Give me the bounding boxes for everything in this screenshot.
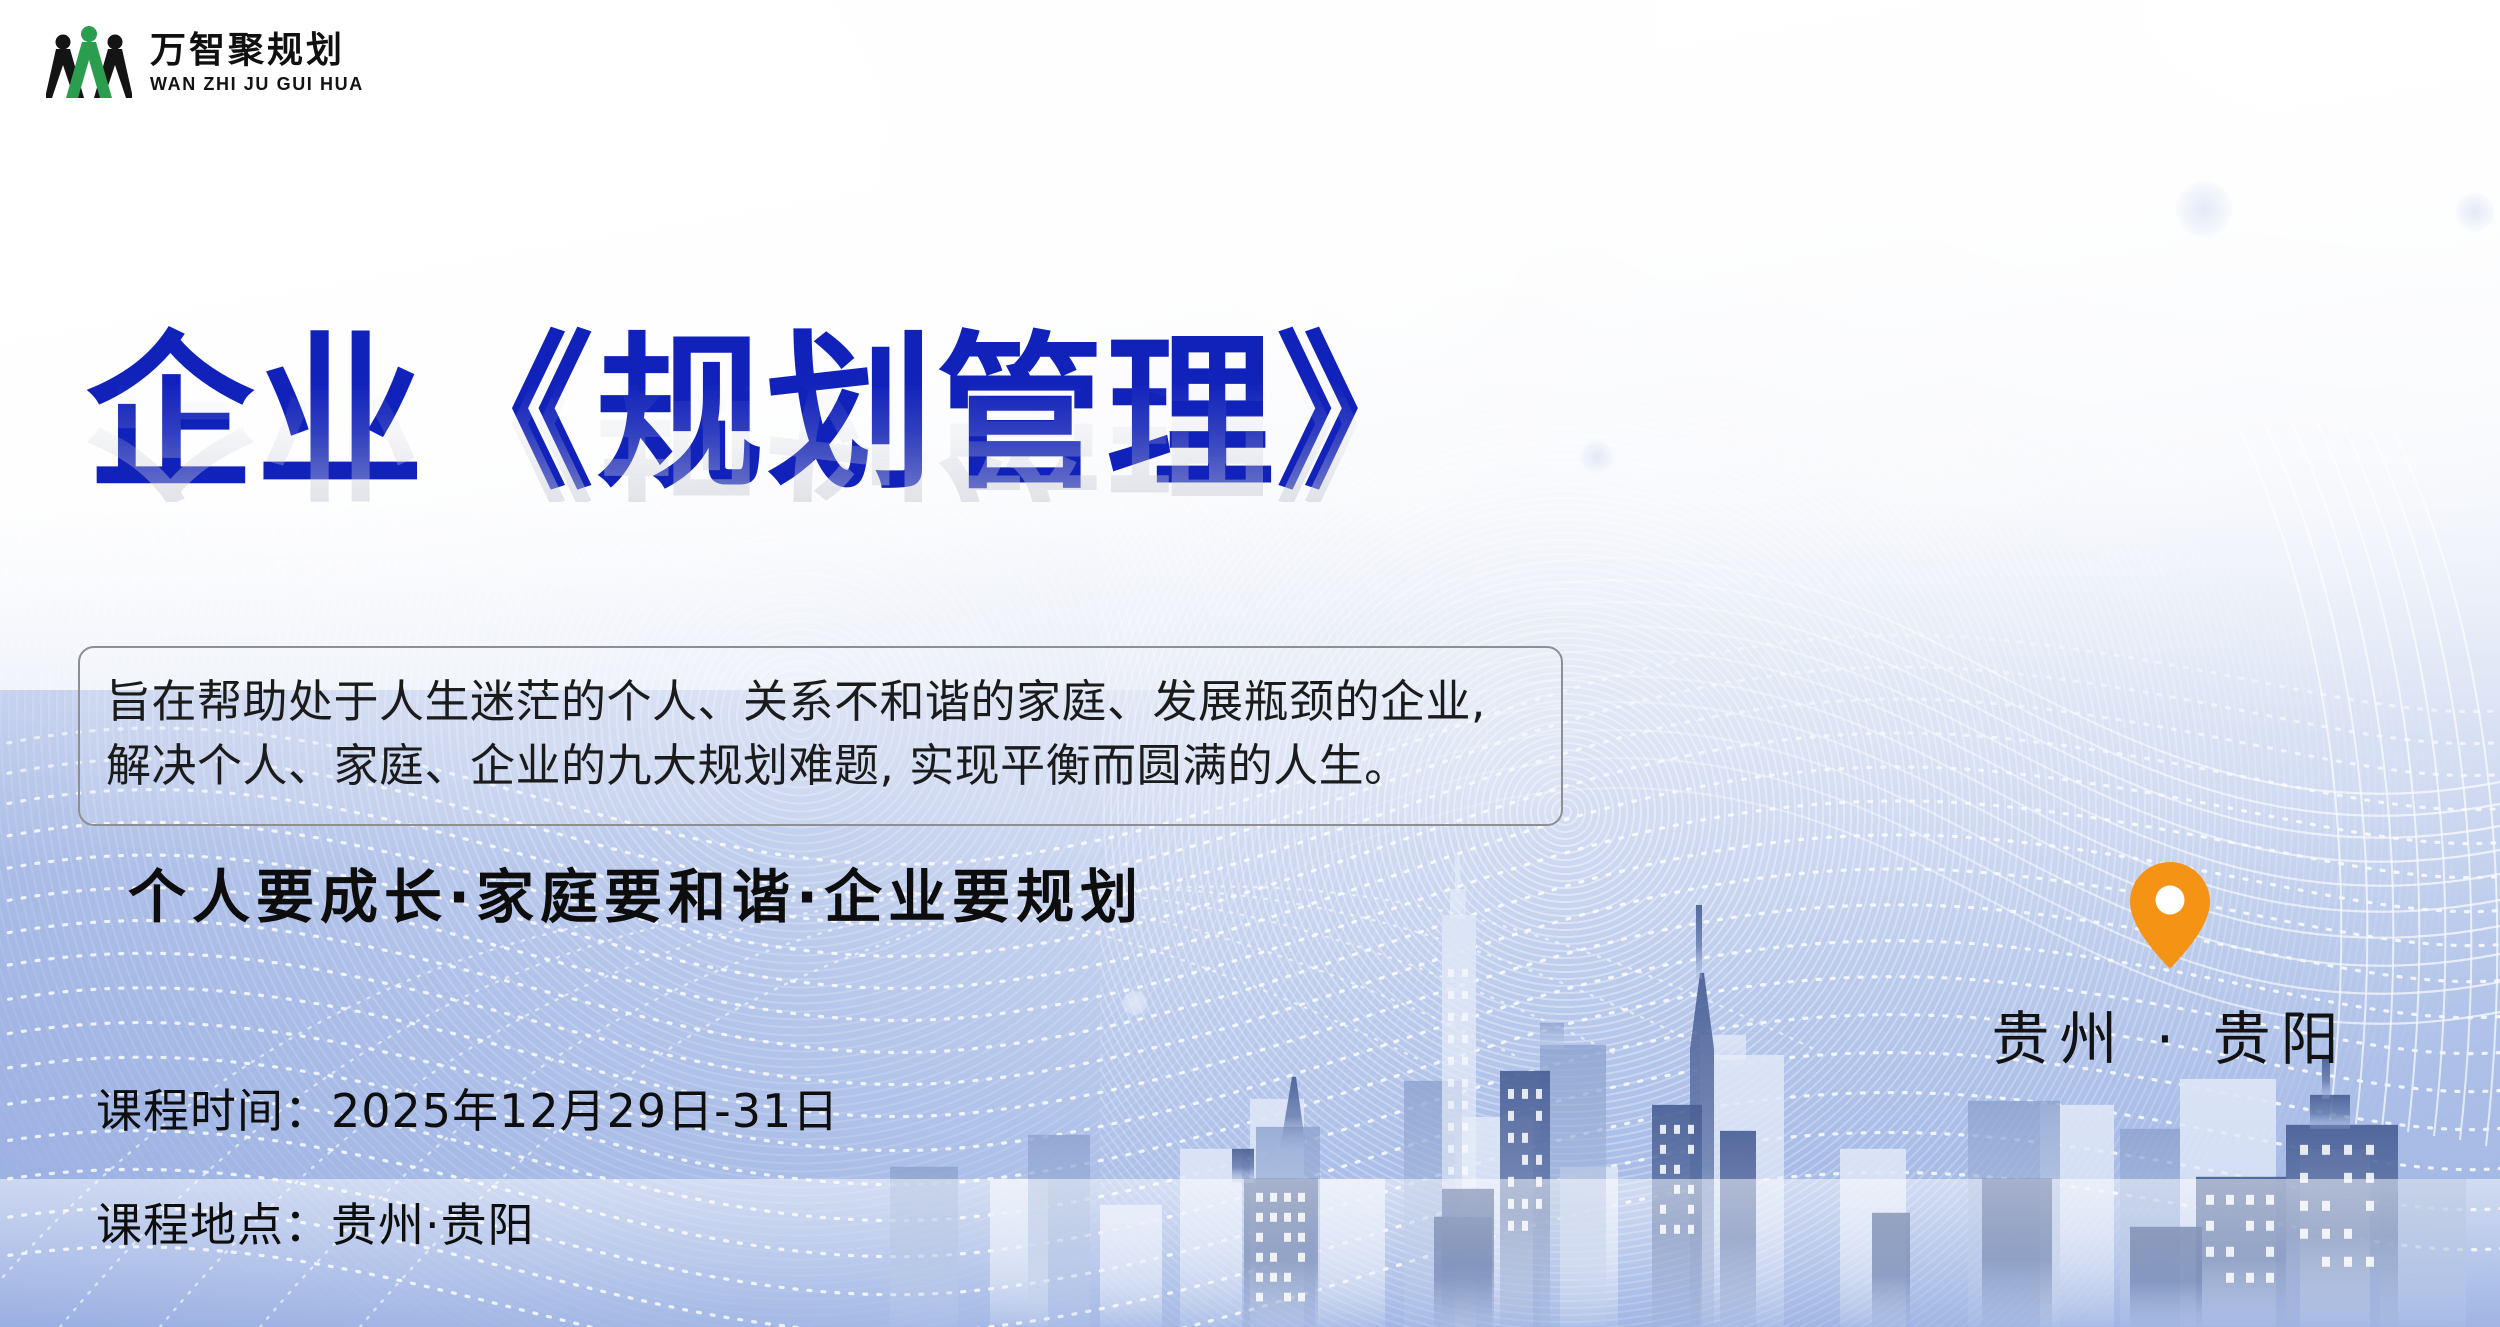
- course-place-row: 课程地点：贵州·贵阳: [96, 1189, 839, 1255]
- location-block: 贵州 · 贵阳: [1960, 860, 2380, 1076]
- brand-name-en: WAN ZHI JU GUI HUA: [150, 75, 364, 93]
- page-title-reflection: 企业《规划管理》: [86, 334, 1446, 502]
- headline-block: 企业《规划管理》 企业《规划管理》: [86, 330, 1446, 670]
- bokeh-circle-1: [2175, 180, 2233, 238]
- brand-logo[interactable]: 万智聚规划 WAN ZHI JU GUI HUA: [46, 22, 364, 102]
- bokeh-circle-3: [1580, 440, 1614, 474]
- description-box: 旨在帮助处于人生迷茫的个人、关系不和谐的家庭、发展瓶颈的企业, 解决个人、家庭、…: [78, 646, 1563, 826]
- bokeh-circle-2: [2455, 192, 2495, 232]
- course-meta: 课程时间：2025年12月29日-31日 课程地点：贵州·贵阳: [96, 1075, 839, 1255]
- location-label: 贵州 · 贵阳: [1960, 992, 2380, 1076]
- three-people-logo-icon: [46, 22, 132, 102]
- tagline: 个人要成长·家庭要和谐·企业要规划: [128, 850, 1144, 934]
- bokeh-circle-4: [1122, 990, 1148, 1016]
- description-line-1: 旨在帮助处于人生迷茫的个人、关系不和谐的家庭、发展瓶颈的企业,: [106, 670, 1535, 734]
- poster-canvas: 万智聚规划 WAN ZHI JU GUI HUA 企业《规划管理》 企业《规划管…: [0, 0, 2500, 1327]
- course-date-row: 课程时间：2025年12月29日-31日: [96, 1075, 839, 1141]
- description-line-2: 解决个人、家庭、企业的九大规划难题, 实现平衡而圆满的人生。: [106, 734, 1535, 798]
- map-pin-icon: [2127, 860, 2213, 970]
- brand-name-cn: 万智聚规划: [150, 32, 364, 68]
- brand-logo-text: 万智聚规划 WAN ZHI JU GUI HUA: [150, 32, 364, 93]
